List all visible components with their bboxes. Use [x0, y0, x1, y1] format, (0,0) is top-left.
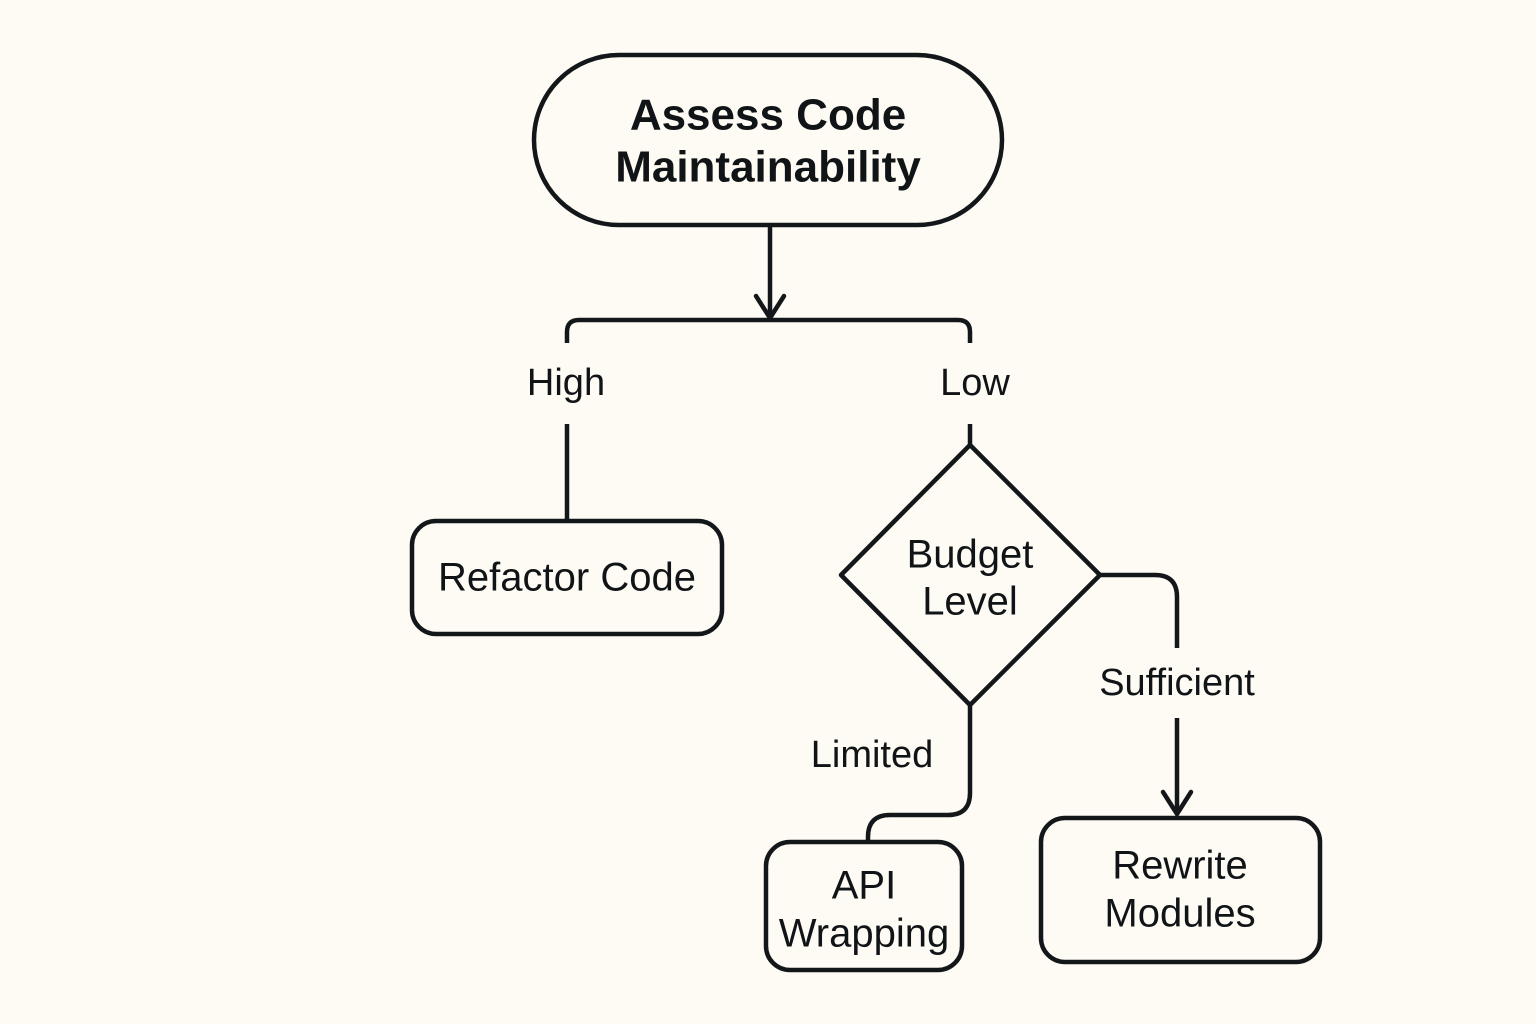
node-api-wrapping-label-line1: API	[832, 864, 896, 908]
node-rewrite-modules-label-line2: Modules	[1104, 892, 1255, 936]
node-budget-level-label-line1: Budget	[907, 533, 1034, 577]
node-rewrite-modules-shape[interactable]	[1041, 818, 1320, 962]
node-assess-code-maintainability[interactable]: Assess Code Maintainability	[534, 55, 1002, 225]
node-refactor-code[interactable]: Refactor Code	[412, 521, 722, 634]
edge-sufficient-to-rewrite-elbow	[1101, 575, 1177, 648]
flowchart-svg: Assess Code Maintainability Refactor Cod…	[0, 0, 1536, 1024]
edge-start-to-split	[756, 226, 784, 318]
edge-label-sufficient: Sufficient	[1099, 662, 1255, 704]
edge-label-limited: Limited	[811, 734, 934, 776]
node-api-wrapping-label-line2: Wrapping	[779, 912, 949, 956]
node-rewrite-modules-label-line1: Rewrite	[1112, 844, 1248, 888]
edge-split-bar-path	[567, 320, 970, 343]
node-assess-code-maintainability-label-line1: Assess Code	[630, 91, 906, 140]
node-api-wrapping[interactable]: API Wrapping	[766, 842, 962, 970]
edge-label-high: High	[527, 362, 605, 404]
flowchart-canvas: Assess Code Maintainability Refactor Cod…	[0, 0, 1536, 1024]
edge-label-low: Low	[940, 362, 1010, 404]
node-assess-code-maintainability-shape[interactable]	[534, 55, 1002, 225]
node-assess-code-maintainability-label-line2: Maintainability	[615, 143, 921, 192]
node-budget-level[interactable]: Budget Level	[841, 445, 1100, 705]
node-budget-level-label-line2: Level	[922, 580, 1018, 624]
edge-split-bar	[567, 320, 970, 343]
node-rewrite-modules[interactable]: Rewrite Modules	[1041, 818, 1320, 962]
node-refactor-code-label: Refactor Code	[438, 556, 696, 600]
